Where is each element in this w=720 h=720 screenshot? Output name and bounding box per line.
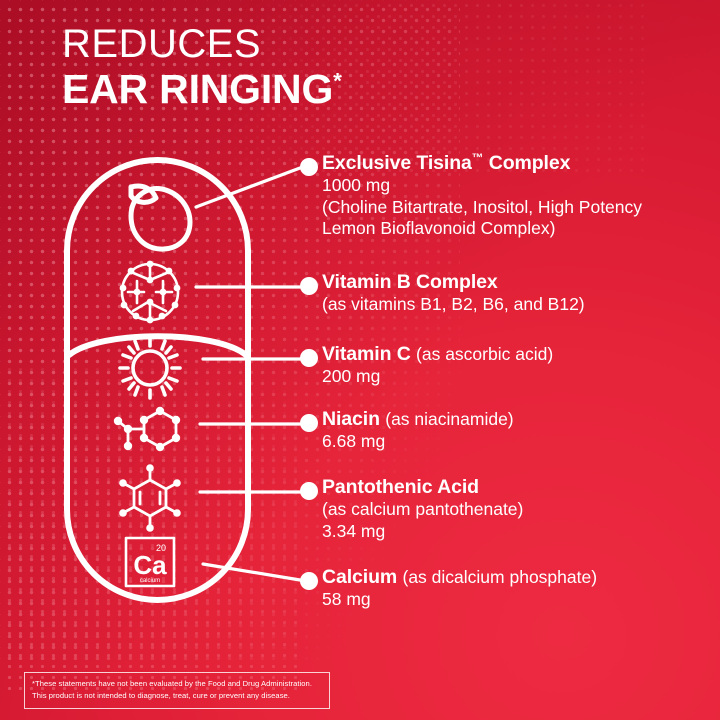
- ingredient-item-vitamin-c: Vitamin C (as ascorbic acid) 200 mg: [322, 343, 553, 388]
- ingredient-amount: 200 mg: [322, 366, 553, 388]
- ingredient-amount: 3.34 mg: [322, 521, 523, 543]
- ingredient-name-text: Calcium: [322, 566, 397, 588]
- ingredient-amount: 58 mg: [322, 589, 597, 611]
- headline-line-2: EAR RINGING*: [62, 69, 342, 110]
- ingredient-detail-line: (Choline Bitartrate, Inositol, High Pote…: [322, 197, 642, 219]
- page-title: REDUCES EAR RINGING*: [62, 24, 342, 110]
- headline-line-2-text: EAR RINGING: [62, 66, 333, 112]
- ingredient-detail-line: (as calcium pantothenate): [322, 499, 523, 521]
- ingredient-name: Calcium (as dicalcium phosphate): [322, 566, 597, 589]
- ingredient-detail-line: Lemon Bioflavonoid Complex): [322, 218, 642, 240]
- headline-asterisk: *: [333, 68, 342, 93]
- ingredient-item-calcium: Calcium (as dicalcium phosphate) 58 mg: [322, 566, 597, 611]
- ingredient-item-vitamin-b: Vitamin B Complex (as vitamins B1, B2, B…: [322, 271, 585, 316]
- ingredient-amount: 6.68 mg: [322, 431, 514, 453]
- disclaimer-line-1: *These statements have not been evaluate…: [32, 678, 322, 690]
- ingredient-inline-detail: (as ascorbic acid): [416, 344, 553, 364]
- ingredient-name: Exclusive Tisina™ Complex: [322, 152, 642, 175]
- ingredient-item-tisina: Exclusive Tisina™ Complex 1000 mg (Choli…: [322, 152, 642, 240]
- ingredient-name-text: Niacin: [322, 408, 380, 430]
- ingredient-name: Pantothenic Acid: [322, 476, 523, 499]
- ingredient-item-pantothenic-acid: Pantothenic Acid (as calcium pantothenat…: [322, 476, 523, 542]
- ingredient-item-niacin: Niacin (as niacinamide) 6.68 mg: [322, 408, 514, 453]
- fda-disclaimer: *These statements have not been evaluate…: [24, 672, 330, 709]
- ingredient-name: Niacin (as niacinamide): [322, 408, 514, 431]
- ingredient-name-text: Vitamin C: [322, 343, 411, 365]
- ingredient-name: Vitamin B Complex: [322, 271, 585, 294]
- ingredient-name: Vitamin C (as ascorbic acid): [322, 343, 553, 366]
- infographic-root: REDUCES EAR RINGING*: [0, 0, 720, 720]
- trademark-symbol: ™: [472, 152, 484, 165]
- headline-line-1: REDUCES: [62, 24, 342, 64]
- ingredient-inline-detail: (as dicalcium phosphate): [403, 567, 598, 587]
- ingredient-name-suffix: Complex: [483, 152, 570, 174]
- ingredient-detail-line: (as vitamins B1, B2, B6, and B12): [322, 294, 585, 316]
- halftone-dots-lower: [0, 360, 300, 690]
- ingredient-amount: 1000 mg: [322, 175, 642, 197]
- ingredient-name-text: Exclusive Tisina: [322, 152, 472, 174]
- disclaimer-line-2: This product is not intended to diagnose…: [32, 690, 322, 702]
- ingredient-inline-detail: (as niacinamide): [385, 409, 513, 429]
